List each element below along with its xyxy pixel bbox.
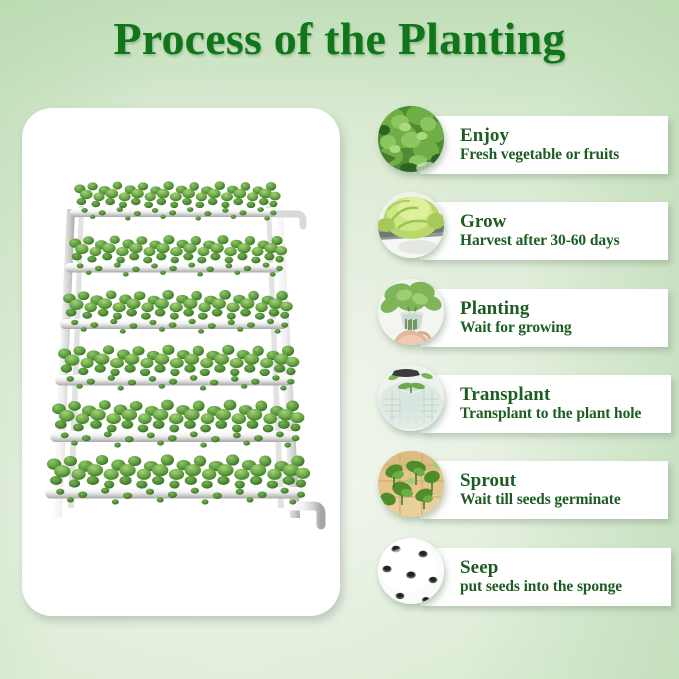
sponge-holes-photo-icon [378,538,444,604]
step-title: Transplant [460,385,670,405]
step-grow[interactable]: Grow Harvest after 30-60 days [374,192,674,278]
lettuce-head-photo-icon [378,192,444,258]
step-text: Transplant Transplant to the plant hole [460,375,670,433]
step-text: Planting Wait for growing [460,289,670,347]
step-subtitle: put seeds into the sponge [460,579,670,595]
step-subtitle: Transplant to the plant hole [460,406,670,422]
step-subtitle: Harvest after 30-60 days [460,233,670,249]
product-image-card [22,108,340,616]
step-title: Planting [460,299,670,319]
net-pot-photo-icon [378,365,444,431]
step-title: Seep [460,558,670,578]
step-subtitle: Wait for growing [460,320,670,336]
step-subtitle: Wait till seeds germinate [460,492,670,508]
step-title: Grow [460,212,670,232]
step-title: Sprout [460,471,670,491]
step-title: Enjoy [460,126,670,146]
planting-process-steps: Enjoy Fresh vegetable or fruits [374,106,674,618]
seedling-in-hand-photo-icon [378,279,444,345]
sprouts-in-sponge-photo-icon [378,451,444,517]
step-text: Grow Harvest after 30-60 days [460,202,670,260]
step-planting[interactable]: Planting Wait for growing [374,279,674,365]
leafy-greens-photo-icon [378,106,444,172]
step-enjoy[interactable]: Enjoy Fresh vegetable or fruits [374,106,674,192]
step-subtitle: Fresh vegetable or fruits [460,147,670,163]
step-seep[interactable]: Seep put seeds into the sponge [374,538,674,624]
step-text: Seep put seeds into the sponge [460,548,670,606]
hydroponic-tower-illustration [22,108,340,616]
page-title: Process of the Planting [0,12,679,65]
step-text: Enjoy Fresh vegetable or fruits [460,116,670,174]
step-sprout[interactable]: Sprout Wait till seeds germinate [374,451,674,537]
step-text: Sprout Wait till seeds germinate [460,461,670,519]
step-transplant[interactable]: Transplant Transplant to the plant hole [374,365,674,451]
